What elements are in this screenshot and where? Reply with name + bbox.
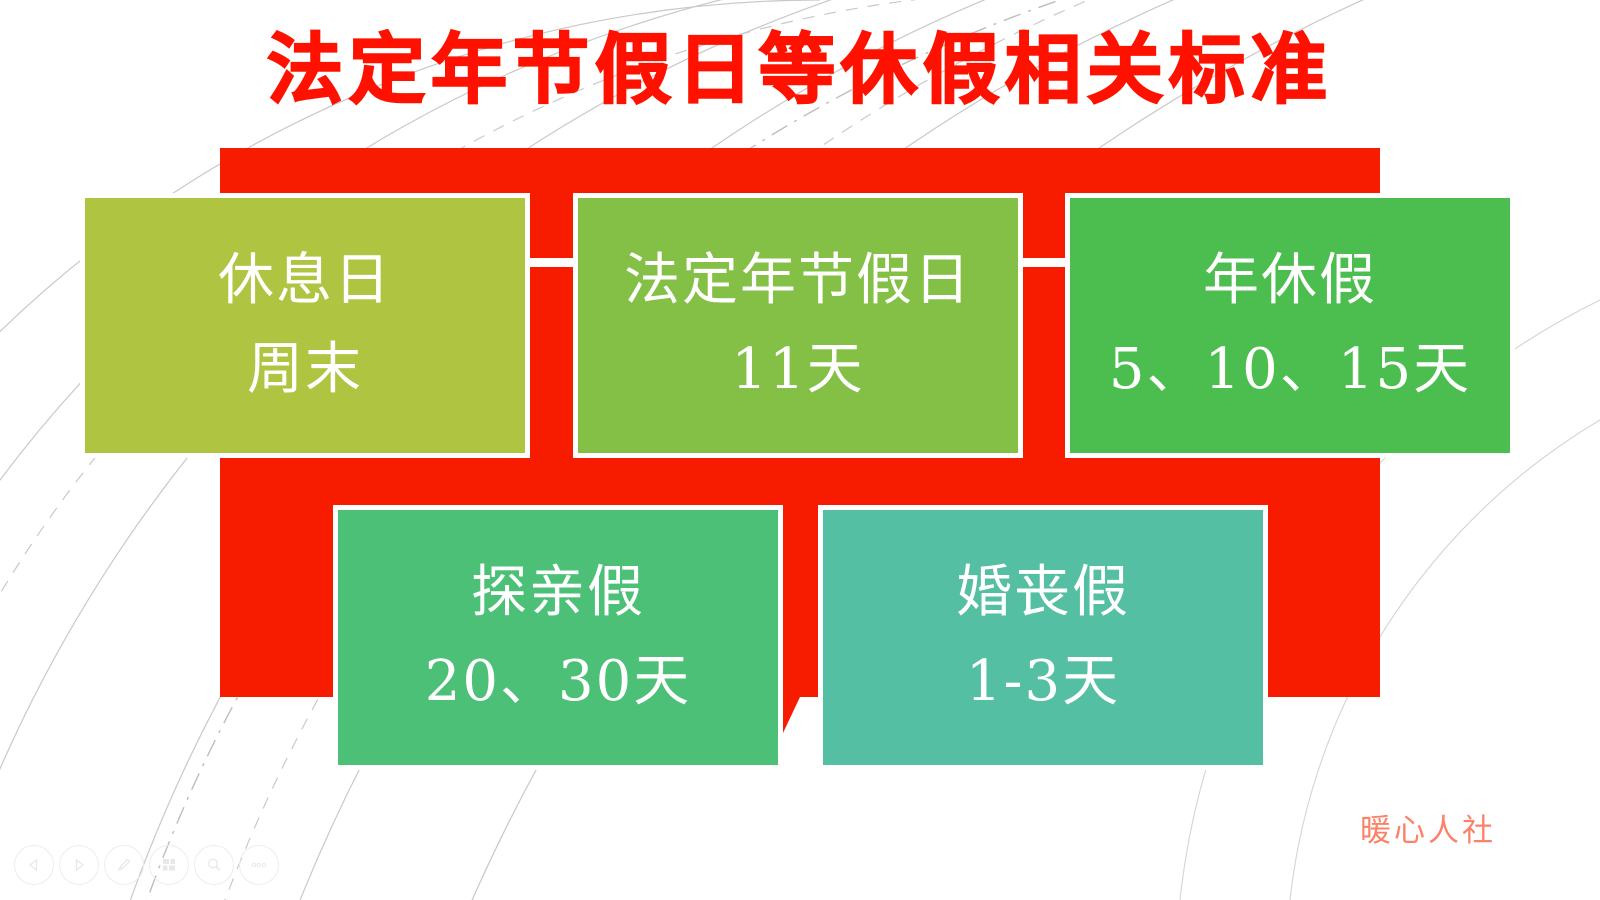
card-value: 5、10、15天 <box>1109 337 1471 403</box>
card-rest-day[interactable]: 休息日 周末 <box>80 193 530 458</box>
zoom-button[interactable] <box>194 845 234 885</box>
previous-slide-icon <box>26 857 42 873</box>
slideshow-toolbar <box>14 845 279 885</box>
card-value: 11天 <box>731 337 864 403</box>
card-value: 周末 <box>247 337 363 403</box>
card-statutory-holiday[interactable]: 法定年节假日 11天 <box>573 193 1023 458</box>
next-slide-button[interactable] <box>59 845 99 885</box>
card-title: 探亲假 <box>471 560 645 626</box>
next-slide-icon <box>71 857 87 873</box>
card-marriage-funeral-leave[interactable]: 婚丧假 1-3天 <box>818 505 1268 770</box>
watermark-text: 暖心人社 <box>1360 805 1496 850</box>
card-annual-leave[interactable]: 年休假 5、10、15天 <box>1065 193 1515 458</box>
pen-icon <box>115 856 133 874</box>
card-title: 年休假 <box>1203 248 1377 314</box>
card-connector-left <box>530 258 575 267</box>
zoom-icon <box>205 856 223 874</box>
card-title: 法定年节假日 <box>624 248 972 314</box>
presentation-slide: 法定年节假日等休假相关标准 休息日 周末 法定年节假日 11天 年休假 5、10… <box>0 0 1600 900</box>
slide-grid-button[interactable] <box>149 845 189 885</box>
card-home-visit-leave[interactable]: 探亲假 20、30天 <box>333 505 783 770</box>
slide-grid-icon <box>160 856 178 874</box>
card-title: 休息日 <box>218 248 392 314</box>
previous-slide-button[interactable] <box>14 845 54 885</box>
card-title: 婚丧假 <box>956 560 1130 626</box>
pen-button[interactable] <box>104 845 144 885</box>
page-title: 法定年节假日等休假相关标准 <box>0 28 1600 112</box>
card-value: 1-3天 <box>966 649 1120 715</box>
more-options-icon <box>249 861 269 869</box>
card-value: 20、30天 <box>425 649 692 715</box>
card-connector-right <box>1022 258 1067 267</box>
more-options-button[interactable] <box>239 845 279 885</box>
